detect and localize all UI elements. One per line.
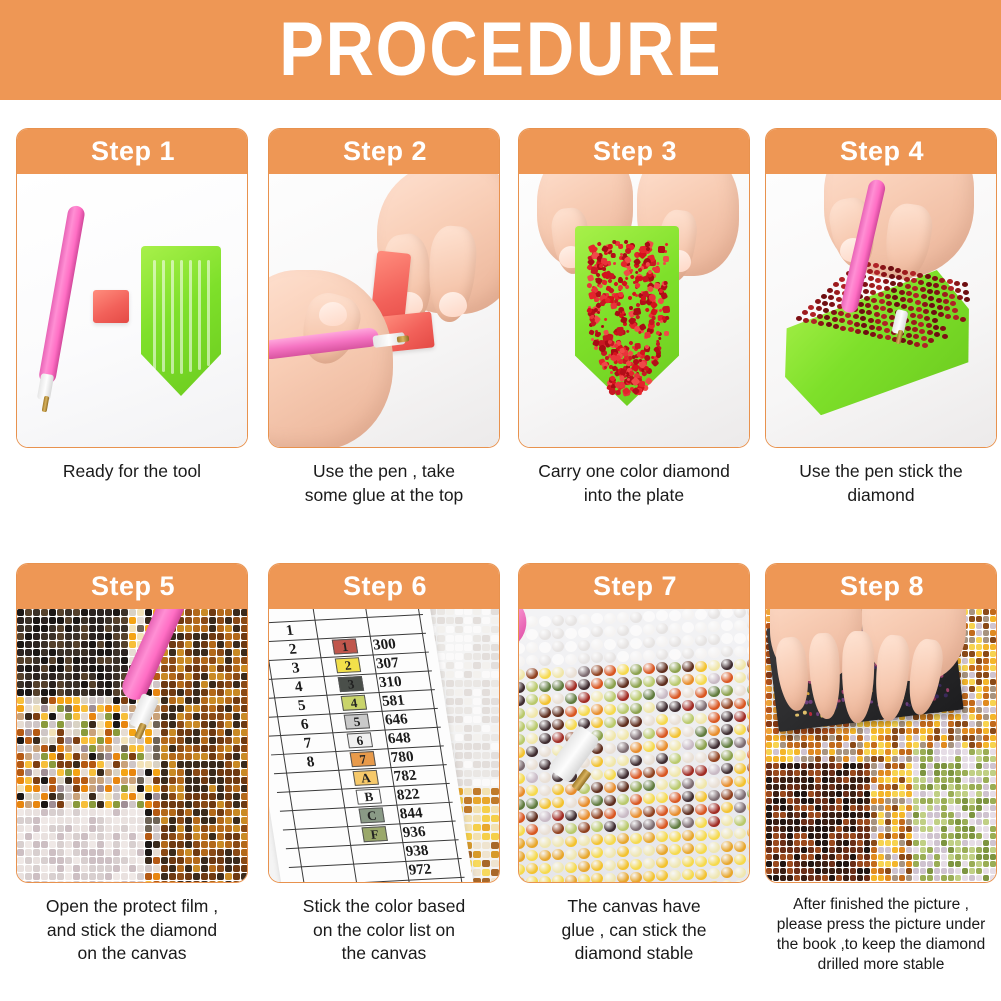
diamond-bead [491, 635, 499, 642]
diamond-bead [153, 849, 160, 856]
diamond-bead [808, 735, 814, 741]
diamond-bead [33, 857, 40, 864]
diamond-bead [604, 318, 608, 322]
diamond-bead [878, 819, 884, 825]
diamond-bead [225, 721, 232, 728]
diamond-bead [81, 625, 88, 632]
diamond-bead [906, 735, 912, 741]
diamond-bead [105, 617, 112, 624]
diamond-bead [794, 868, 800, 874]
diamond-bead [137, 793, 144, 800]
diamond-bead [857, 777, 863, 783]
diamond-bead [121, 617, 128, 624]
diamond-bead [73, 849, 80, 856]
diamond-bead [591, 717, 603, 728]
diamond-bead [177, 785, 184, 792]
diamond-bead [81, 825, 88, 832]
diamond-bead [552, 823, 564, 834]
diamond-bead [482, 671, 490, 678]
diamond-bead [809, 712, 813, 716]
diamond-bead [766, 749, 772, 755]
diamond-bead [895, 268, 901, 273]
diamond-bead [49, 729, 56, 736]
diamond-bead [857, 847, 863, 853]
diamond-bead [121, 729, 128, 736]
diamond-bead [446, 617, 454, 624]
diamond-bead [617, 742, 629, 753]
diamond-bead [913, 861, 919, 867]
sunflower-mosaic-canvas [17, 609, 248, 883]
diamond-bead [721, 854, 733, 865]
diamond-bead [955, 833, 961, 839]
diamond-bead [695, 726, 707, 737]
diamond-bead [578, 679, 590, 690]
diamond-bead [201, 689, 208, 696]
diamond-bead [927, 826, 933, 832]
diamond-bead [193, 617, 200, 624]
diamond-bead [97, 793, 104, 800]
diamond-bead [721, 659, 733, 670]
diamond-bead [983, 609, 989, 615]
diamond-bead [217, 881, 224, 883]
diamond-bead [97, 657, 104, 664]
page-banner: PROCEDURE [0, 0, 1001, 100]
diamond-bead [855, 329, 861, 334]
diamond-bead [920, 784, 926, 790]
diamond-bead [773, 819, 779, 825]
diamond-bead [871, 819, 877, 825]
diamond-bead [927, 875, 933, 881]
diamond-bead [801, 749, 807, 755]
diamond-bead [983, 749, 989, 755]
diamond-bead [25, 809, 32, 816]
diamond-bead [33, 841, 40, 848]
diamond-bead [945, 314, 951, 319]
diamond-bead [185, 625, 192, 632]
diamond-bead [121, 833, 128, 840]
diamond-bead [927, 749, 933, 755]
diamond-bead [934, 332, 940, 337]
diamond-bead [225, 841, 232, 848]
diamond-bead [885, 854, 891, 860]
diamond-bead [948, 868, 954, 874]
diamond-bead [899, 721, 905, 727]
diamond-bead [233, 801, 240, 808]
diamond-bead [552, 693, 564, 704]
diamond-bead [934, 721, 940, 727]
diamond-bead [105, 817, 112, 824]
diamond-bead [920, 714, 926, 720]
diamond-bead [843, 763, 849, 769]
chart-symbol-cell: 5 [344, 714, 371, 731]
diamond-bead [815, 728, 821, 734]
diamond-bead [941, 770, 947, 776]
step-7-photo [519, 609, 750, 883]
diamond-bead [57, 865, 64, 872]
diamond-bead [41, 705, 48, 712]
diamond-bead [57, 641, 64, 648]
diamond-bead [836, 861, 842, 867]
diamond-bead [177, 737, 184, 744]
diamond-bead [747, 827, 750, 838]
diamond-bead [822, 749, 828, 755]
diamond-bead [17, 737, 24, 744]
diamond-bead [787, 742, 793, 748]
diamond-bead [840, 326, 846, 331]
diamond-bead [843, 805, 849, 811]
diamond-bead [482, 824, 490, 831]
diamond-bead [65, 753, 72, 760]
diamond-bead [747, 736, 750, 747]
diamond-bead [766, 833, 772, 839]
diamond-bead [185, 849, 192, 856]
diamond-bead [873, 263, 879, 268]
diamond-bead [201, 681, 208, 688]
diamond-bead [682, 713, 694, 724]
diamond-bead [766, 756, 772, 762]
diamond-bead [630, 742, 642, 753]
diamond-bead [822, 798, 828, 804]
diamond-bead [815, 735, 821, 741]
diamond-bead [464, 725, 472, 732]
diamond-bead [105, 641, 112, 648]
diamond-bead [169, 753, 176, 760]
diamond-bead [121, 609, 128, 616]
diamond-bead [33, 649, 40, 656]
diamond-bead [976, 679, 982, 685]
diamond-bead [193, 825, 200, 832]
diamond-bead [695, 648, 707, 659]
diamond-bead [829, 868, 835, 874]
diamond-bead [491, 725, 499, 732]
diamond-bead [209, 881, 216, 883]
diamond-bead [943, 299, 949, 304]
diamond-bead [780, 854, 786, 860]
diamond-bead [906, 756, 912, 762]
diamond-bead [983, 770, 989, 776]
diamond-bead [201, 865, 208, 872]
diamond-bead [241, 625, 248, 632]
diamond-bead [815, 833, 821, 839]
diamond-bead [153, 841, 160, 848]
diamond-bead [962, 784, 968, 790]
diamond-bead [633, 308, 641, 316]
diamond-bead [906, 749, 912, 755]
diamond-bead [464, 716, 472, 723]
diamond-bead [73, 641, 80, 648]
diamond-bead [552, 667, 564, 678]
diamond-bead [617, 768, 629, 779]
diamond-bead [225, 849, 232, 856]
diamond-bead [969, 861, 975, 867]
diamond-bead [33, 633, 40, 640]
step-7-card-frame: Step 7 [518, 563, 750, 883]
diamond-bead [33, 617, 40, 624]
diamond-bead [177, 697, 184, 704]
diamond-bead [464, 788, 472, 795]
diamond-bead [617, 755, 629, 766]
diamond-bead [552, 706, 564, 717]
diamond-bead [49, 633, 56, 640]
diamond-bead [801, 875, 807, 881]
diamond-bead [817, 314, 823, 319]
diamond-bead [177, 665, 184, 672]
diamond-bead [519, 734, 525, 745]
diamond-bead [864, 826, 870, 832]
diamond-bead [871, 721, 877, 727]
diamond-bead [482, 653, 490, 660]
diamond-bead [906, 819, 912, 825]
diamond-bead [526, 811, 538, 822]
diamond-bead [65, 745, 72, 752]
diamond-bead [145, 745, 152, 752]
diamond-bead [241, 673, 248, 680]
diamond-bead [836, 728, 842, 734]
diamond-bead [539, 668, 551, 679]
diamond-bead [209, 657, 216, 664]
diamond-bead [25, 833, 32, 840]
diamond-bead [962, 798, 968, 804]
diamond-bead [899, 847, 905, 853]
chart-symbol-cell: B [356, 789, 383, 806]
diamond-bead [864, 805, 870, 811]
diamond-bead [241, 833, 248, 840]
diamond-bead [656, 831, 668, 842]
diamond-bead [923, 309, 929, 314]
diamond-bead [796, 316, 802, 321]
diamond-bead [850, 770, 856, 776]
diamond-bead [57, 697, 64, 704]
diamond-bead [89, 833, 96, 840]
diamond-bead [787, 875, 793, 881]
diamond-bead [113, 849, 120, 856]
diamond-bead [663, 256, 669, 262]
diamond-bead [209, 737, 216, 744]
diamond-bead [73, 817, 80, 824]
diamond-bead [734, 776, 746, 787]
diamond-bead [821, 294, 827, 299]
diamond-bead [57, 737, 64, 744]
diamond-bead [491, 806, 499, 813]
diamond-bead [910, 271, 916, 276]
diamond-bead [927, 756, 933, 762]
diamond-bead [225, 705, 232, 712]
diamond-bead [473, 662, 481, 669]
diamond-bead [604, 613, 616, 624]
diamond-bead [217, 649, 224, 656]
diamond-bead [853, 314, 859, 319]
diamond-bead [81, 873, 88, 880]
diamond-bead [983, 798, 989, 804]
diamond-bead [49, 745, 56, 752]
diamond-bead [850, 812, 856, 818]
diamond-bead [57, 857, 64, 864]
diamond-bead [464, 707, 472, 714]
diamond-bead [17, 721, 24, 728]
diamond-bead [815, 819, 821, 825]
diamond-bead [105, 705, 112, 712]
diamond-bead [526, 694, 538, 705]
diamond-bead [161, 809, 168, 816]
diamond-bead [97, 617, 104, 624]
diamond-bead [815, 299, 821, 304]
diamond-bead [491, 833, 499, 840]
diamond-bead [446, 707, 454, 714]
diamond-bead [565, 680, 577, 691]
diamond-bead [482, 707, 490, 714]
diamond-bead [766, 714, 772, 720]
diamond-bead [892, 833, 898, 839]
diamond-bead [864, 861, 870, 867]
diamond-bead [618, 291, 623, 296]
diamond-bead [121, 841, 128, 848]
diamond-bead [913, 826, 919, 832]
diamond-bead [955, 749, 961, 755]
diamond-bead [911, 320, 917, 325]
diamond-bead [73, 761, 80, 768]
diamond-bead [815, 826, 821, 832]
diamond-bead [33, 777, 40, 784]
diamond-bead [682, 830, 694, 841]
diamond-bead [822, 882, 828, 883]
diamond-bead [921, 336, 927, 341]
diamond-bead [747, 619, 750, 630]
diamond-bead [57, 657, 64, 664]
diamond-bead [25, 729, 32, 736]
diamond-bead [941, 833, 947, 839]
diamond-bead [900, 297, 906, 302]
diamond-bead [857, 875, 863, 881]
diamond-bead [437, 635, 445, 642]
diamond-bead [121, 849, 128, 856]
diamond-bead [473, 653, 481, 660]
diamond-bead [81, 609, 88, 616]
diamond-bead [482, 635, 490, 642]
diamond-bead [983, 630, 989, 636]
diamond-bead [695, 635, 707, 646]
diamond-bead [843, 854, 849, 860]
diamond-bead [952, 308, 958, 313]
diamond-bead [823, 308, 829, 313]
diamond-bead [885, 770, 891, 776]
diamond-bead [948, 861, 954, 867]
chart-symbol-cell: 3 [338, 676, 365, 693]
diamond-bead [801, 798, 807, 804]
diamond-bead [526, 629, 538, 640]
diamond-bead [578, 835, 590, 846]
diamond-bead [169, 761, 176, 768]
diamond-bead [105, 857, 112, 864]
diamond-bead [857, 798, 863, 804]
diamond-bead [217, 849, 224, 856]
diamond-bead [526, 616, 538, 627]
diamond-bead [17, 809, 24, 816]
step-5-card-frame: Step 5 [16, 563, 248, 883]
diamond-bead [630, 794, 642, 805]
diamond-bead [113, 881, 120, 883]
diamond-bead [201, 809, 208, 816]
diamond-bead [850, 882, 856, 883]
diamond-bead [873, 305, 879, 310]
diamond-bead [871, 812, 877, 818]
diamond-bead [850, 805, 856, 811]
diamond-bead [57, 881, 64, 883]
diamond-bead [864, 882, 870, 883]
diamond-bead [482, 680, 490, 687]
diamond-bead [153, 753, 160, 760]
diamond-bead [878, 798, 884, 804]
diamond-bead [201, 633, 208, 640]
diamond-bead [829, 798, 835, 804]
diamond-bead [33, 673, 40, 680]
diamond-bead [708, 738, 720, 749]
diamond-bead [65, 841, 72, 848]
diamond-bead [990, 833, 996, 839]
diamond-bead [829, 784, 835, 790]
diamond-bead [990, 742, 996, 748]
diamond-bead [81, 649, 88, 656]
diamond-bead [617, 807, 629, 818]
diamond-bead [89, 777, 96, 784]
diamond-bead [876, 326, 882, 331]
diamond-bead [185, 673, 192, 680]
diamond-bead [892, 721, 898, 727]
diamond-bead [721, 609, 733, 618]
diamond-bead [169, 801, 176, 808]
diamond-bead [185, 841, 192, 848]
diamond-bead [864, 735, 870, 741]
diamond-bead [491, 878, 499, 883]
diamond-bead [193, 657, 200, 664]
diamond-bead [177, 649, 184, 656]
diamond-bead [73, 857, 80, 864]
diamond-bead [33, 881, 40, 883]
diamond-bead [113, 825, 120, 832]
diamond-bead [969, 630, 975, 636]
diamond-bead [455, 662, 463, 669]
diamond-bead [591, 613, 603, 624]
diamond-bead [630, 846, 642, 857]
diamond-bead [963, 290, 969, 295]
diamond-bead [153, 865, 160, 872]
diamond-bead [906, 805, 912, 811]
diamond-bead [747, 658, 750, 669]
diamond-bead [217, 817, 224, 824]
diamond-bead [491, 761, 499, 768]
diamond-bead [808, 777, 814, 783]
diamond-bead [871, 861, 877, 867]
diamond-bead [955, 777, 961, 783]
diamond-bead [794, 742, 800, 748]
diamond-bead [161, 841, 168, 848]
diamond-bead [826, 322, 832, 327]
diamond-bead [169, 817, 176, 824]
diamond-bead [927, 330, 933, 335]
diamond-bead [969, 819, 975, 825]
diamond-bead [766, 707, 772, 713]
diamond-bead [925, 274, 931, 279]
diamond-bead [829, 833, 835, 839]
diamond-bead [161, 833, 168, 840]
diamond-bead [773, 770, 779, 776]
diamond-bead [209, 625, 216, 632]
diamond-bead [917, 273, 923, 278]
diamond-bead [161, 881, 168, 883]
diamond-bead [233, 777, 240, 784]
diamond-bead [962, 847, 968, 853]
diamond-bead [882, 321, 888, 326]
diamond-bead [962, 658, 968, 664]
